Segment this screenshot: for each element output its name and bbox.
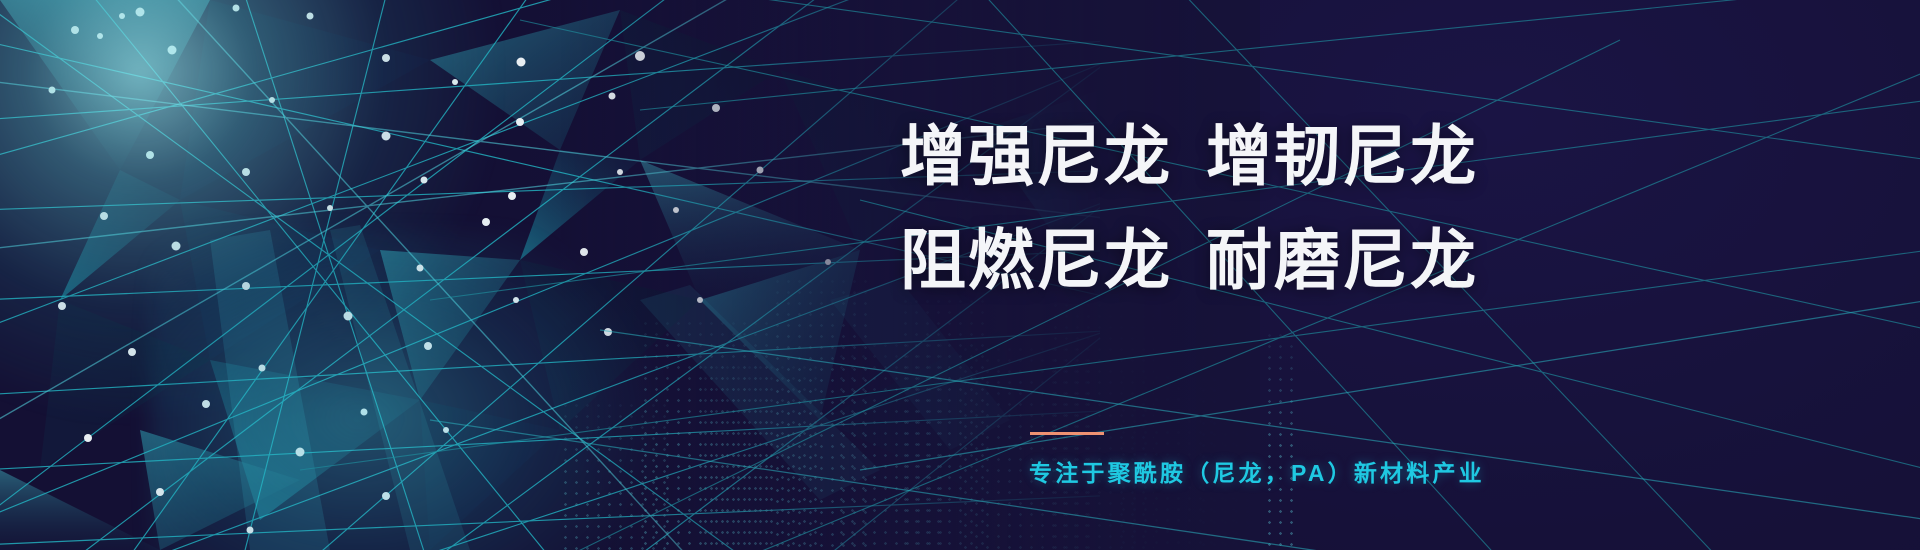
headline-line-1: 增强尼龙增韧尼龙	[900, 104, 1600, 208]
headline-line-2-part-1: 阻燃尼龙	[900, 223, 1172, 297]
hero-banner: 增强尼龙增韧尼龙 阻燃尼龙耐磨尼龙 专注于聚酰胺（尼龙，PA）新材料产业	[0, 0, 1920, 550]
headline-line-2: 阻燃尼龙耐磨尼龙	[900, 208, 1600, 312]
headline-line-2-part-2: 耐磨尼龙	[1206, 223, 1478, 297]
accent-rule	[1030, 432, 1104, 435]
headline-line-1-part-1: 增强尼龙	[900, 119, 1172, 193]
copy-block: 增强尼龙增韧尼龙 阻燃尼龙耐磨尼龙	[900, 104, 1600, 313]
subtitle-text: 专注于聚酰胺（尼龙，PA）新材料产业	[1029, 454, 1485, 488]
headline-line-1-part-2: 增韧尼龙	[1206, 119, 1478, 193]
